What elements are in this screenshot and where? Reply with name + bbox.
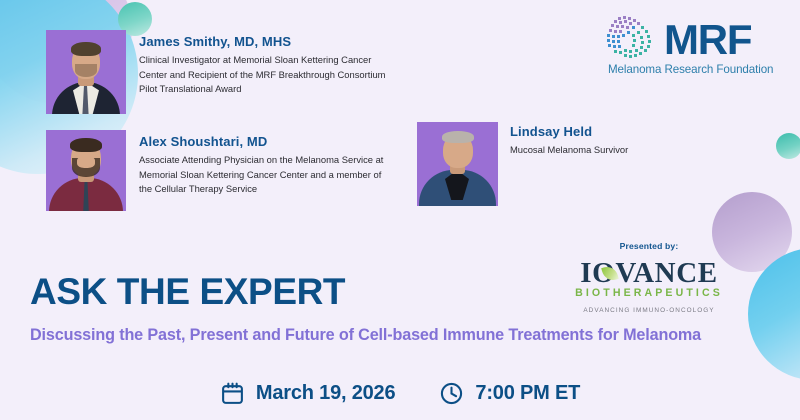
speaker-card: Alex Shoushtari, MD Associate Attending … <box>46 130 389 211</box>
speaker-name: Alex Shoushtari, MD <box>139 134 389 149</box>
page-subtitle: Discussing the Past, Present and Future … <box>30 325 765 346</box>
mrf-logo: MRF Melanoma Research Foundation <box>604 14 790 78</box>
speaker-card: James Smithy, MD, MHS Clinical Investiga… <box>46 30 389 114</box>
speaker-title: Clinical Investigator at Memorial Sloan … <box>139 53 389 97</box>
speaker-info: Lindsay Held Mucosal Melanoma Survivor <box>510 122 628 158</box>
mrf-tagline: Melanoma Research Foundation <box>608 63 773 76</box>
speaker-headshot <box>46 130 126 211</box>
speaker-info: Alex Shoushtari, MD Associate Attending … <box>139 130 389 197</box>
event-time: 7:00 PM ET <box>439 381 580 406</box>
spiral-dots-icon <box>604 14 658 62</box>
mrf-acronym: MRF <box>664 16 751 64</box>
page-title: ASK THE EXPERT <box>30 272 345 312</box>
event-date-label: March 19, 2026 <box>256 382 396 405</box>
speaker-headshot <box>46 30 126 114</box>
presented-by-label: Presented by: <box>560 241 738 251</box>
speaker-card: Lindsay Held Mucosal Melanoma Survivor <box>417 122 628 206</box>
event-details: March 19, 2026 7:00 PM ET <box>0 381 800 406</box>
speaker-name: James Smithy, MD, MHS <box>139 34 389 49</box>
calendar-icon <box>220 381 245 406</box>
event-date: March 19, 2026 <box>220 381 396 406</box>
speaker-title: Mucosal Melanoma Survivor <box>510 143 628 158</box>
event-time-label: 7:00 PM ET <box>475 382 580 405</box>
sponsor-tagline: ADVANCING IMMUNO-ONCOLOGY <box>560 307 738 314</box>
decorative-circle-teal-right <box>776 133 800 159</box>
sponsor-block: Presented by: IOVANCE BIOTHERAPEUTICS AD… <box>560 241 738 314</box>
decorative-circle-blue-bottom-right <box>748 248 800 380</box>
webinar-promo-graphic: MRF Melanoma Research Foundation James S… <box>0 0 800 420</box>
clock-icon <box>439 381 464 406</box>
sponsor-wordmark: IOVANCE <box>580 258 717 288</box>
speaker-info: James Smithy, MD, MHS Clinical Investiga… <box>139 30 389 97</box>
speaker-title: Associate Attending Physician on the Mel… <box>139 153 389 197</box>
speaker-headshot <box>417 122 498 206</box>
speaker-name: Lindsay Held <box>510 124 628 139</box>
sponsor-name: IOVANCE <box>580 257 717 289</box>
